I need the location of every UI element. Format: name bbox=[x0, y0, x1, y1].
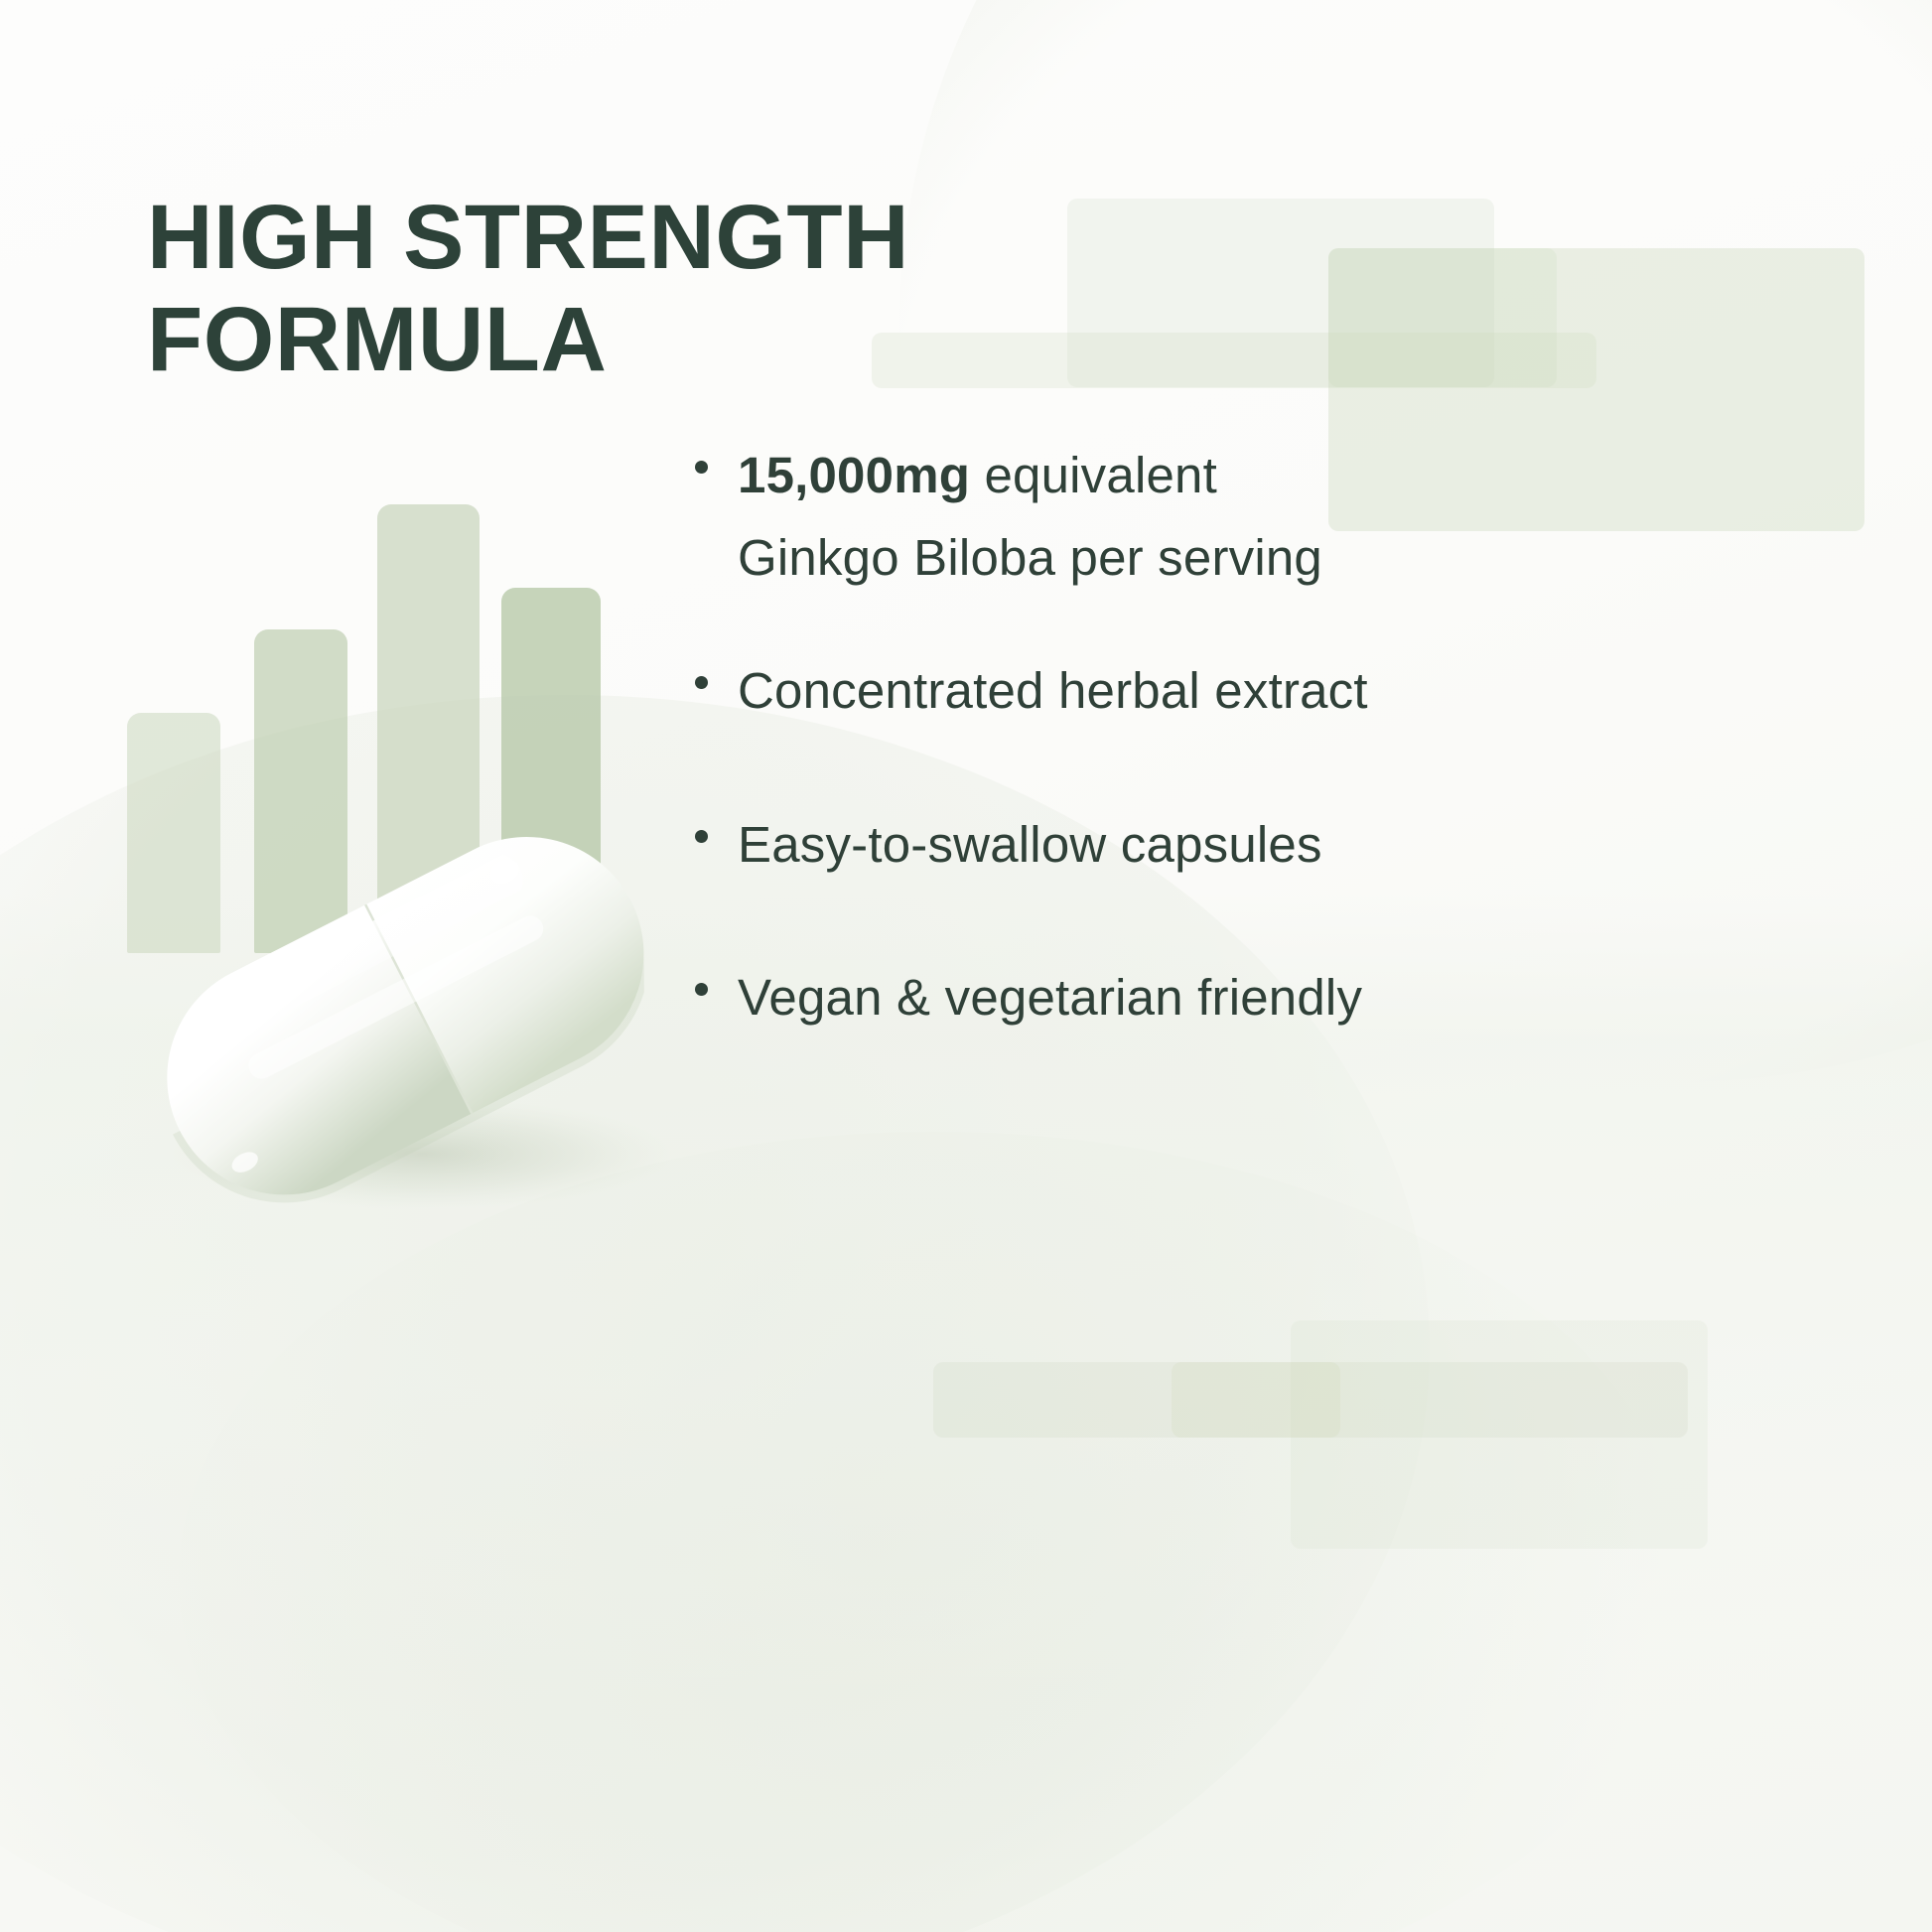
product-feature-card: HIGH STRENGTH FORMULA bbox=[0, 0, 1932, 1932]
decorative-plate-bottom-right-small bbox=[1172, 1362, 1340, 1438]
list-item: Concentrated herbal extract bbox=[695, 650, 1886, 733]
list-item: 15,000mg equivalent Ginkgo Biloba per se… bbox=[695, 435, 1886, 599]
decorative-plate-bottom-right-block bbox=[1291, 1320, 1708, 1549]
bullet-dot-icon bbox=[695, 830, 708, 843]
bullet-dot-icon bbox=[695, 676, 708, 689]
feature-text-concentrated: Concentrated herbal extract bbox=[738, 650, 1368, 733]
feature-list: 15,000mg equivalent Ginkgo Biloba per se… bbox=[695, 435, 1886, 1039]
bullet-dot-icon bbox=[695, 461, 708, 474]
feature-text-easy-swallow: Easy-to-swallow capsules bbox=[738, 804, 1322, 887]
decorative-plate-top-right-accent bbox=[1328, 248, 1557, 387]
feature-rest-dosage: equivalent bbox=[970, 447, 1217, 503]
capsule-icon bbox=[94, 794, 690, 1211]
feature-emphasis-dosage: 15,000mg bbox=[738, 447, 970, 503]
list-item: Vegan & vegetarian friendly bbox=[695, 957, 1886, 1039]
list-item: Easy-to-swallow capsules bbox=[695, 804, 1886, 887]
feature-line2-dosage: Ginkgo Biloba per serving bbox=[738, 529, 1322, 586]
bullet-dot-icon bbox=[695, 983, 708, 996]
capsule-illustration bbox=[94, 794, 690, 1211]
feature-text-dosage: 15,000mg equivalent Ginkgo Biloba per se… bbox=[738, 435, 1322, 599]
feature-text-vegan: Vegan & vegetarian friendly bbox=[738, 957, 1362, 1039]
